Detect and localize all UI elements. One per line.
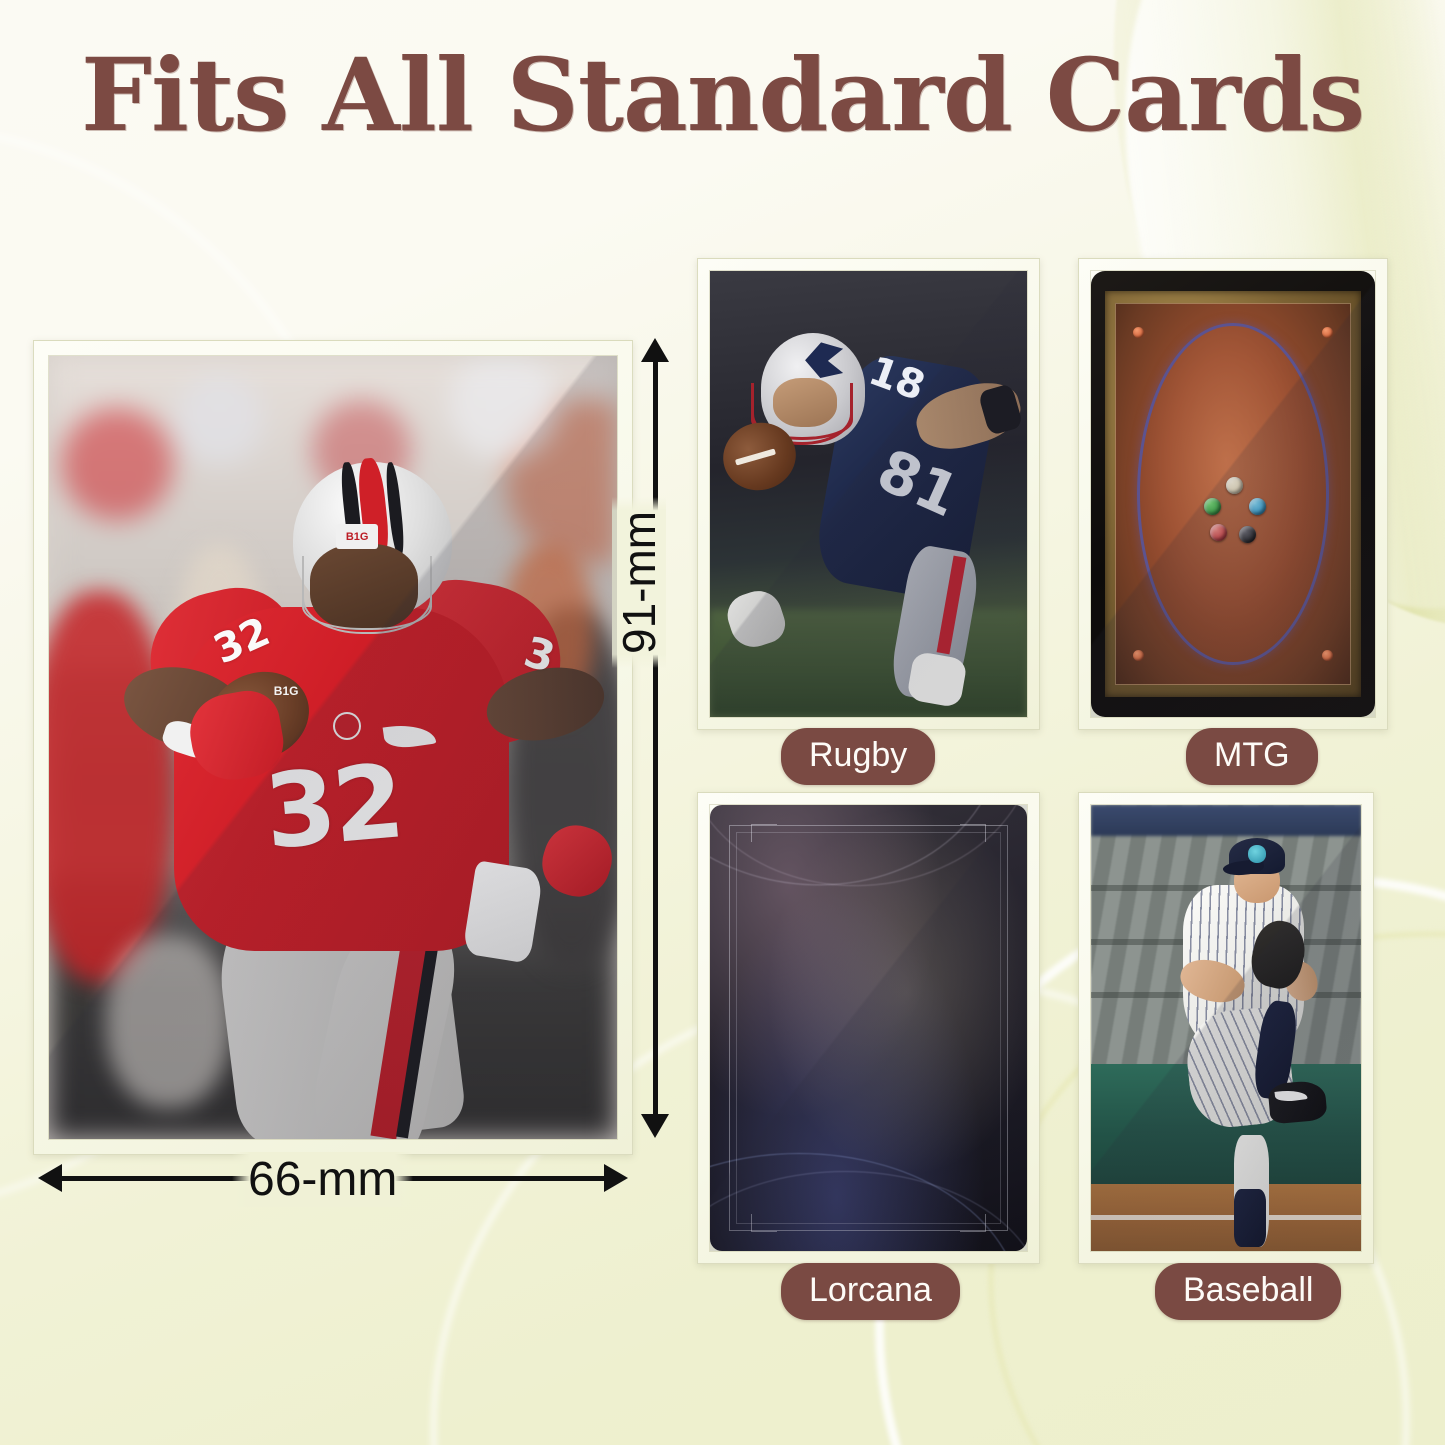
height-dimension-label: 91-mm [612, 497, 666, 668]
label-lorcana: Lorcana [781, 1263, 960, 1320]
label-mtg: MTG [1186, 728, 1318, 785]
mtg-card-artwork [1090, 270, 1376, 718]
lorcana-corner-notch-bottom-left [751, 1214, 777, 1232]
mana-white-icon [1226, 477, 1243, 494]
dimension-shaft-vertical [653, 356, 658, 1120]
stadium-upper-band [1091, 805, 1361, 836]
mtg-corner-dot-bottom-right [1322, 650, 1333, 661]
blurred-figure-5 [106, 935, 231, 1107]
mtg-outer-frame [1105, 291, 1361, 697]
lorcana-card [697, 792, 1040, 1264]
mtg-corner-dot-bottom-left [1133, 650, 1144, 661]
infographic-canvas: Fits All Standard Cards [0, 0, 1445, 1445]
helmet-conference-logo: B1G [336, 524, 379, 549]
rugby-sock [906, 650, 968, 708]
mtg-corner-dot-top-right [1322, 327, 1333, 338]
pitcher-cleat [1268, 1079, 1328, 1124]
mana-blue-icon [1249, 498, 1266, 515]
foul-line [1091, 1215, 1361, 1220]
label-baseball: Baseball [1155, 1263, 1341, 1320]
rugby-card-artwork: 18 81 [709, 270, 1028, 718]
jersey-number: 32 [260, 742, 406, 872]
height-dimension-arrow [637, 338, 673, 1138]
lorcana-ornate-border [729, 825, 1008, 1231]
mtg-corner-dot-top-left [1133, 327, 1144, 338]
page-title: Fits All Standard Cards [0, 36, 1445, 154]
mtg-inner-frame [1115, 303, 1350, 685]
pitcher-plant-sock [1234, 1189, 1266, 1247]
facemask-bar-2 [302, 579, 433, 630]
main-card-artwork: B1G B1G 32 3 32 [48, 355, 618, 1140]
cap-team-logo-icon [1248, 845, 1267, 863]
mana-red-icon [1210, 524, 1227, 541]
arrow-head-right-icon [604, 1164, 628, 1192]
lorcana-corner-notch-top-left [751, 824, 777, 842]
mana-green-icon [1204, 498, 1221, 515]
lorcana-card-artwork [709, 804, 1028, 1252]
main-football-card: B1G B1G 32 3 32 [33, 340, 633, 1155]
baseball-card [1078, 792, 1374, 1264]
rugby-card: 18 81 [697, 258, 1040, 730]
lorcana-corner-notch-bottom-right [960, 1214, 986, 1232]
mtg-center-oval [1137, 323, 1328, 665]
width-dimension-label: 66-mm [232, 1152, 413, 1207]
lorcana-corner-notch-top-right [960, 824, 986, 842]
chest-conference-logo: B1G [259, 677, 313, 705]
label-rugby: Rugby [781, 728, 935, 785]
mana-black-icon [1239, 526, 1256, 543]
baseball-card-artwork [1090, 804, 1362, 1252]
mtg-card [1078, 258, 1388, 730]
stadium-scene: B1G B1G 32 3 32 [49, 356, 617, 1139]
mtg-card-border [1091, 271, 1375, 717]
arrow-head-down-icon [641, 1114, 669, 1138]
